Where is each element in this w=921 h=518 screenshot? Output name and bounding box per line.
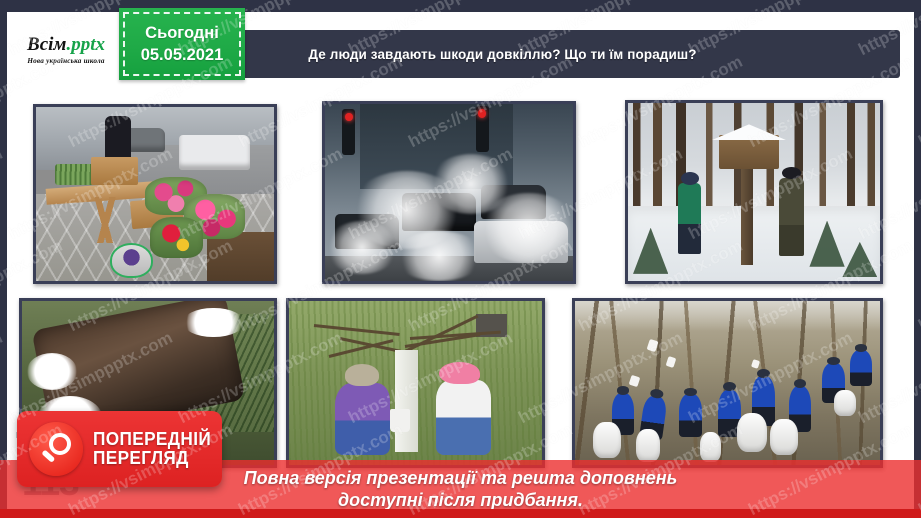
- date-badge: Сьогодні 05.05.2021: [119, 8, 245, 80]
- exhaust-plume-4: [325, 221, 399, 274]
- flower-basket: [110, 243, 153, 278]
- foam-patch-4: [183, 308, 243, 338]
- bare-soil: [207, 232, 274, 281]
- trash-bag-2: [636, 429, 660, 462]
- trash-bag-5: [770, 419, 797, 455]
- photo-litter-cleanup[interactable]: Волонтери збирають сміття в чагарниках: [572, 298, 883, 468]
- date-badge-value: 05.05.2021: [141, 44, 224, 66]
- volunteer-3: [679, 394, 702, 437]
- watermark-text: https://vsimppptx.com: [0, 144, 6, 244]
- watermark-text: https://vsimppptx.com: [915, 52, 921, 152]
- logo-wordmark: Всім.pptx: [27, 35, 105, 54]
- paint-bucket: [390, 409, 410, 432]
- page-title: Де люди завдають шкоди довкіллю? Що ти ї…: [308, 47, 696, 62]
- preview-badge-text: ПОПЕРЕДНІЙ ПЕРЕГЛЯД: [93, 430, 211, 468]
- preview-badge[interactable]: ПОПЕРЕДНІЙ ПЕРЕГЛЯД: [17, 411, 222, 487]
- flower-bunch-3: [150, 217, 202, 259]
- birdhouse-post: [741, 167, 752, 265]
- photo-car-exhaust-scene: [325, 104, 573, 281]
- photo-birdhouse-scene: [628, 103, 880, 281]
- child-pink-kerchief: [436, 380, 492, 455]
- whitewashed-trunk: [395, 350, 418, 452]
- trash-bag-4: [737, 413, 768, 452]
- exhaust-plume-3: [479, 193, 573, 264]
- logo-extension: .pptx: [66, 34, 105, 55]
- trash-bag-6: [834, 390, 855, 416]
- trash-bag-3: [700, 432, 721, 462]
- photo-car-exhaust[interactable]: Автомобілі на перехресті у вихлопних газ…: [322, 101, 576, 284]
- child-purple-shirt: [335, 383, 391, 455]
- cardboard-box-upper: [91, 157, 139, 185]
- date-badge-label: Сьогодні: [145, 22, 219, 44]
- banner-line-1: Повна версія презентації та решта доповн…: [244, 467, 678, 490]
- traffic-light-right-icon: [476, 106, 488, 152]
- trash-bag-1: [593, 422, 620, 458]
- photo-flower-market-scene: [36, 107, 274, 281]
- person-camo-coat: [779, 178, 804, 256]
- traffic-light-left-icon: [342, 109, 354, 155]
- preview-badge-line2: ПЕРЕГЛЯД: [93, 449, 211, 468]
- watermark-text: https://vsimppptx.com: [915, 236, 921, 336]
- watermark-text: https://vsimppptx.com: [0, 328, 6, 428]
- foam-patch-1: [27, 353, 77, 389]
- vendor-figure: [105, 116, 131, 161]
- child-kerchief: [439, 362, 480, 385]
- magnifier-icon: [29, 422, 83, 476]
- photo-whitewashing[interactable]: Діти білять стовбур дерева: [286, 298, 545, 468]
- exhaust-plume-5: [394, 231, 483, 281]
- photo-litter-cleanup-scene: [575, 301, 880, 465]
- logo-subtitle: Нова українська школа: [27, 57, 104, 65]
- child-cap: [345, 364, 380, 386]
- car-white: [179, 135, 250, 170]
- brand-logo[interactable]: Всім.pptx Нова українська школа: [7, 22, 125, 78]
- volunteer-8: [850, 350, 873, 386]
- watermark-text: https://vsimppptx.com: [0, 0, 6, 60]
- photo-flower-market[interactable]: Продаж квітів на тротуарі біля дороги: [33, 104, 277, 284]
- person-green-coat: [678, 183, 701, 254]
- photo-whitewashing-scene: [289, 301, 542, 465]
- photo-birdhouse[interactable]: Люди вішають годівничку в зимовому лісі: [625, 100, 883, 284]
- banner-bottom-strip: [0, 509, 921, 518]
- slide-canvas: Де люди завдають шкоди довкіллю? Що ти ї…: [0, 0, 921, 518]
- logo-name: Всім: [27, 34, 66, 55]
